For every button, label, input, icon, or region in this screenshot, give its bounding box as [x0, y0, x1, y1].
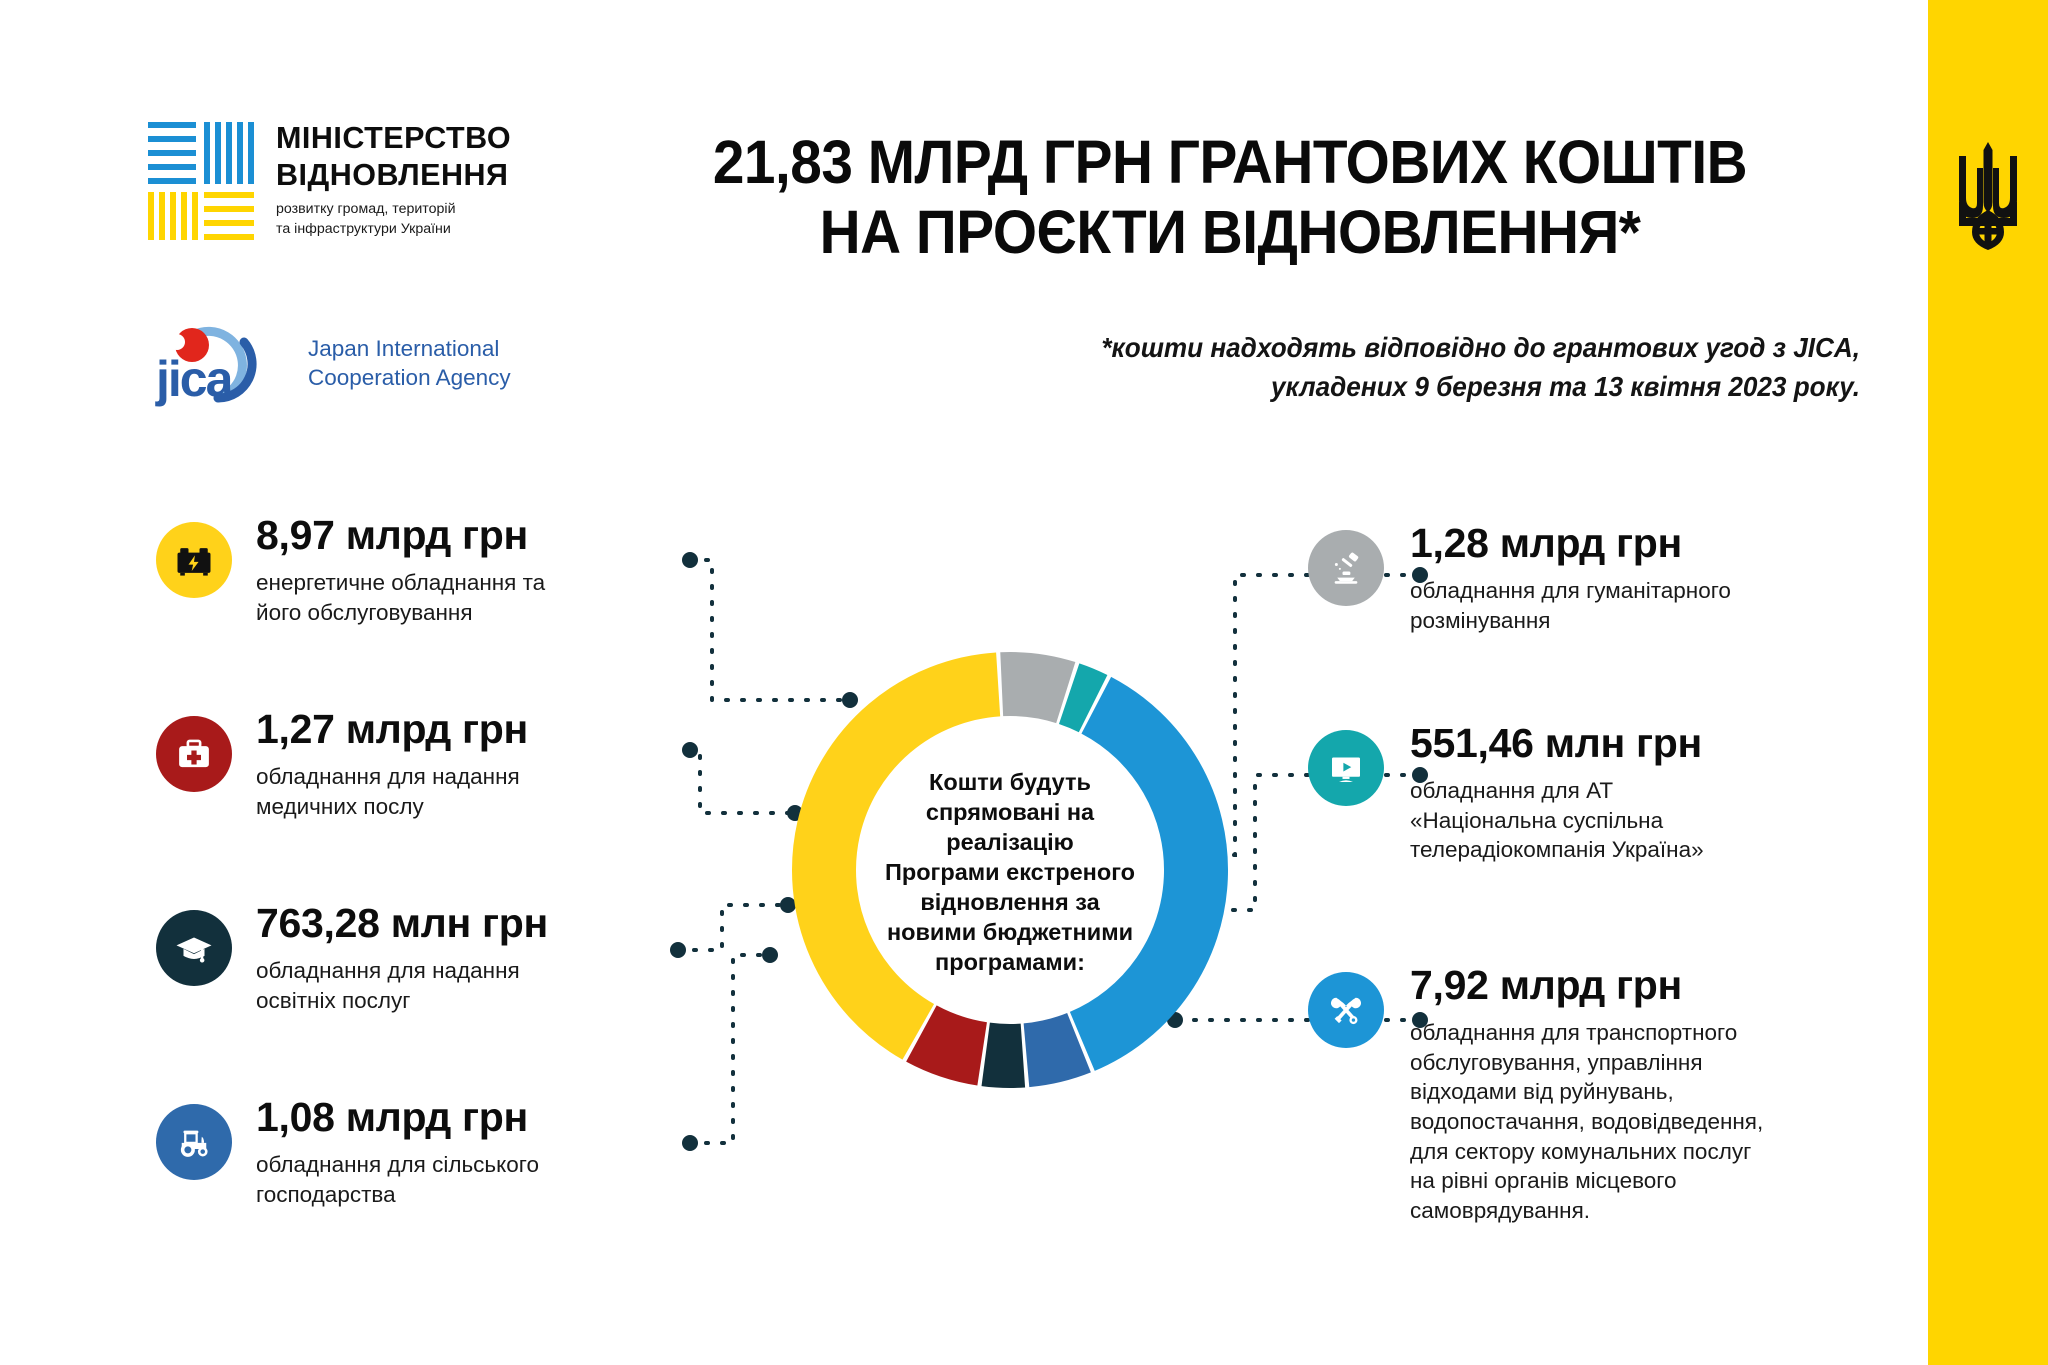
first-aid-kit-icon: [156, 716, 232, 792]
donut-segment-medical: [921, 1034, 982, 1054]
stat-description: енергетичне обладнання та його обслугову…: [256, 568, 656, 627]
jica-name-line2: Cooperation Agency: [308, 365, 511, 390]
footnote-line-2: укладених 9 березня та 13 квітня 2023 ро…: [1271, 371, 1860, 402]
tv-play-icon: [1308, 730, 1384, 806]
tools-wrench-screwdriver-icon: [1308, 972, 1384, 1048]
desc-line-2: його обслуговування: [256, 600, 473, 625]
tractor-icon: [156, 1104, 232, 1180]
footnote: *кошти надходять відповідно до грантових…: [948, 328, 1860, 406]
ukraine-trident-icon: [1950, 140, 2026, 250]
center-line-1: Кошти будуть: [929, 769, 1091, 795]
stat-value: 8,97 млрд грн: [256, 514, 656, 557]
ministry-subtitle-line2: та інфраструктури України: [276, 221, 451, 237]
stat-description: обладнання для АТ «Національна суспільна…: [1410, 776, 1830, 865]
desc-line-2: медичних послу: [256, 794, 424, 819]
donut-center-text: Кошти будуть спрямовані на реалізацію Пр…: [878, 740, 1142, 1004]
stat-value: 1,08 млрд грн: [256, 1096, 656, 1139]
footnote-line-1: *кошти надходять відповідно до грантових…: [1101, 332, 1860, 363]
donut-segment-broadcasting: [1069, 694, 1093, 704]
ministry-logo-mark: [148, 120, 256, 242]
ministry-subtitle-line1: розвитку громад, територій: [276, 201, 456, 217]
desc-line-1: обладнання для надання: [256, 958, 520, 983]
desc-line-1: енергетичне обладнання та: [256, 570, 545, 595]
stat-description: обладнання для надання медичних послу: [256, 762, 656, 821]
donut-segment-demining: [1002, 684, 1066, 693]
battery-icon: [156, 522, 232, 598]
stat-description: обладнання для транспортного обслуговува…: [1410, 1018, 1830, 1226]
stat-value: 551,46 млн грн: [1410, 722, 1830, 765]
center-line-5: відновлення за: [920, 889, 1099, 915]
desc-line-1: обладнання для надання: [256, 764, 520, 789]
accent-stripe: [1928, 0, 2048, 1365]
stat-value: 763,28 млн грн: [256, 902, 656, 945]
jica-logo: jica Japan International Cooperation Age…: [148, 312, 518, 422]
stat-description: обладнання для надання освітніх послуг: [256, 956, 656, 1015]
desc-line-2: господарства: [256, 1182, 396, 1207]
desc-line-2: освітніх послуг: [256, 988, 410, 1013]
desc-line-3: відходами від руйнувань,: [1410, 1079, 1674, 1104]
stat-description: обладнання для сільського господарства: [256, 1150, 656, 1209]
center-line-2: спрямовані на: [926, 799, 1094, 825]
center-line-4: Програми екстреного: [885, 859, 1135, 885]
center-line-3: реалізацію: [946, 829, 1073, 855]
donut-chart: Кошти будуть спрямовані на реалізацію Пр…: [760, 620, 1260, 1120]
jica-logo-mark: jica: [148, 312, 298, 412]
desc-line-2: розмінування: [1410, 608, 1550, 633]
ministry-title-line1: МІНІСТЕРСТВО: [276, 121, 511, 155]
graduation-cap-icon: [156, 910, 232, 986]
ministry-logo: МІНІСТЕРСТВО ВІДНОВЛЕННЯ розвитку громад…: [148, 120, 588, 265]
center-line-7: програмами:: [935, 949, 1085, 975]
center-line-6: новими бюджетними: [887, 919, 1133, 945]
headline-line-2: НА ПРОЄКТИ ВІДНОВЛЕННЯ*: [644, 198, 1816, 268]
desc-line-1: обладнання для транспортного: [1410, 1020, 1737, 1045]
stat-value: 7,92 млрд грн: [1410, 964, 1830, 1007]
desc-line-1: обладнання для сільського: [256, 1152, 539, 1177]
desc-line-5: для сектору комунальних послуг: [1410, 1139, 1751, 1164]
desc-line-7: самоврядування.: [1410, 1198, 1590, 1223]
page-title: 21,83 МЛРД ГРН ГРАНТОВИХ КОШТІВ НА ПРОЄК…: [644, 128, 1816, 267]
stat-description: обладнання для гуманітарного розмінуванн…: [1410, 576, 1830, 635]
desc-line-4: водопостачання, водовідведення,: [1410, 1109, 1763, 1134]
donut-segment-agriculture: [1026, 1043, 1079, 1056]
stat-value: 1,28 млрд грн: [1410, 522, 1830, 565]
donut-segment-education: [986, 1054, 1023, 1056]
desc-line-1: обладнання для АТ: [1410, 778, 1613, 803]
svg-text:jica: jica: [155, 351, 235, 407]
desc-line-1: обладнання для гуманітарного: [1410, 578, 1731, 603]
desc-line-6: на рівні органів місцевого: [1410, 1168, 1677, 1193]
jica-name-line1: Japan International: [308, 336, 499, 361]
ministry-title-line2: ВІДНОВЛЕННЯ: [276, 158, 508, 192]
desc-line-2: обслуговування, управління: [1410, 1050, 1703, 1075]
desc-line-2: «Національна суспільна: [1410, 808, 1663, 833]
infographic-canvas: МІНІСТЕРСТВО ВІДНОВЛЕННЯ розвитку громад…: [0, 0, 2048, 1365]
stat-value: 1,27 млрд грн: [256, 708, 656, 751]
desc-line-3: телерадіокомпанія Україна»: [1410, 837, 1704, 862]
demining-tool-icon: [1308, 530, 1384, 606]
headline-line-1: 21,83 МЛРД ГРН ГРАНТОВИХ КОШТІВ: [713, 128, 1747, 196]
